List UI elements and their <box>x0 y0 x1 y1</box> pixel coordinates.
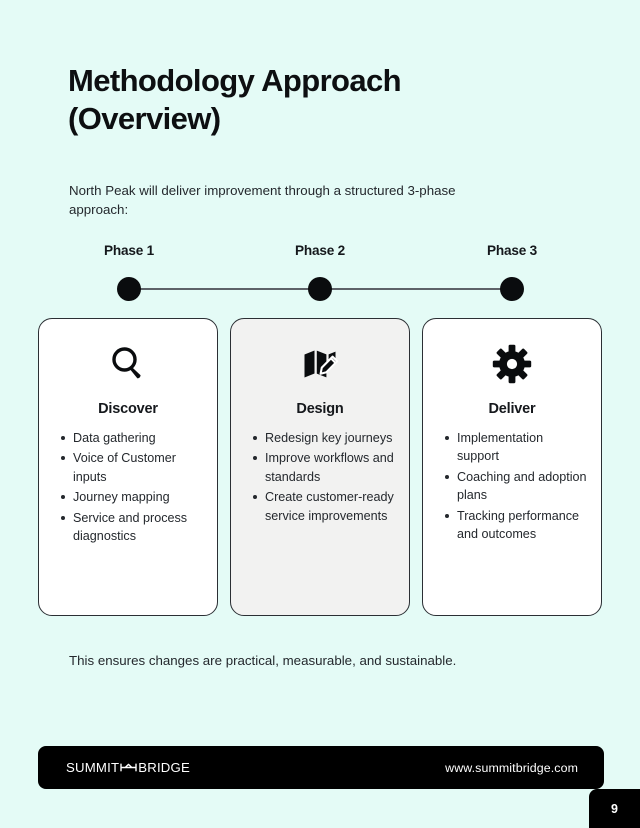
list-item: Implementation support <box>457 429 587 466</box>
gear-icon <box>491 341 533 387</box>
page-title-line-2: (Overview) <box>68 100 538 138</box>
timeline-dot-2 <box>308 277 332 301</box>
phase-card-title: Deliver <box>489 401 536 417</box>
intro-paragraph: North Peak will deliver improvement thro… <box>69 181 489 220</box>
list-item: Service and process diagnostics <box>73 509 203 546</box>
phase-card-bullets: Data gathering Voice of Customer inputs … <box>51 429 205 547</box>
list-item: Voice of Customer inputs <box>73 449 203 486</box>
phase-card-title: Design <box>296 401 343 417</box>
map-edit-icon <box>299 341 341 387</box>
bridge-icon <box>120 761 137 774</box>
phase-label-3: Phase 3 <box>487 243 537 258</box>
list-item: Data gathering <box>73 429 203 447</box>
phase-label-1: Phase 1 <box>104 243 154 258</box>
phase-label-2: Phase 2 <box>295 243 345 258</box>
phase-card-discover[interactable]: Discover Data gathering Voice of Custome… <box>38 318 218 616</box>
phase-card-bullets: Implementation support Coaching and adop… <box>435 429 589 545</box>
footer-website-url[interactable]: www.summitbridge.com <box>445 761 578 775</box>
phase-card-row: Discover Data gathering Voice of Custome… <box>38 318 602 616</box>
list-item: Create customer-ready service improvemen… <box>265 488 395 525</box>
list-item: Tracking performance and outcomes <box>457 507 587 544</box>
list-item: Coaching and adoption plans <box>457 468 587 505</box>
timeline-dot-3 <box>500 277 524 301</box>
phase-card-deliver[interactable]: Deliver Implementation support Coaching … <box>422 318 602 616</box>
list-item: Journey mapping <box>73 488 203 506</box>
timeline-dot-1 <box>117 277 141 301</box>
magnifier-icon <box>107 341 149 387</box>
list-item: Redesign key journeys <box>265 429 395 447</box>
page-title: Methodology Approach (Overview) <box>68 62 538 138</box>
phase-card-title: Discover <box>98 401 158 417</box>
phase-card-bullets: Redesign key journeys Improve workflows … <box>243 429 397 527</box>
phase-label-row: Phase 1 Phase 2 Phase 3 <box>69 243 573 265</box>
brand-logo: SUMMIT BRIDGE <box>66 760 190 775</box>
footer-bar: SUMMIT BRIDGE www.summitbridge.com <box>38 746 604 789</box>
page-number-badge: 9 <box>589 789 640 828</box>
slide-canvas: Methodology Approach (Overview) North Pe… <box>0 0 640 828</box>
page-title-line-1: Methodology Approach <box>68 62 538 100</box>
brand-name-suffix: BRIDGE <box>138 760 190 775</box>
list-item: Improve workflows and standards <box>265 449 395 486</box>
phase-timeline: Phase 1 Phase 2 Phase 3 <box>69 243 573 305</box>
closing-statement: This ensures changes are practical, meas… <box>69 651 569 670</box>
brand-name-prefix: SUMMIT <box>66 760 119 775</box>
phase-card-design[interactable]: Design Redesign key journeys Improve wor… <box>230 318 410 616</box>
